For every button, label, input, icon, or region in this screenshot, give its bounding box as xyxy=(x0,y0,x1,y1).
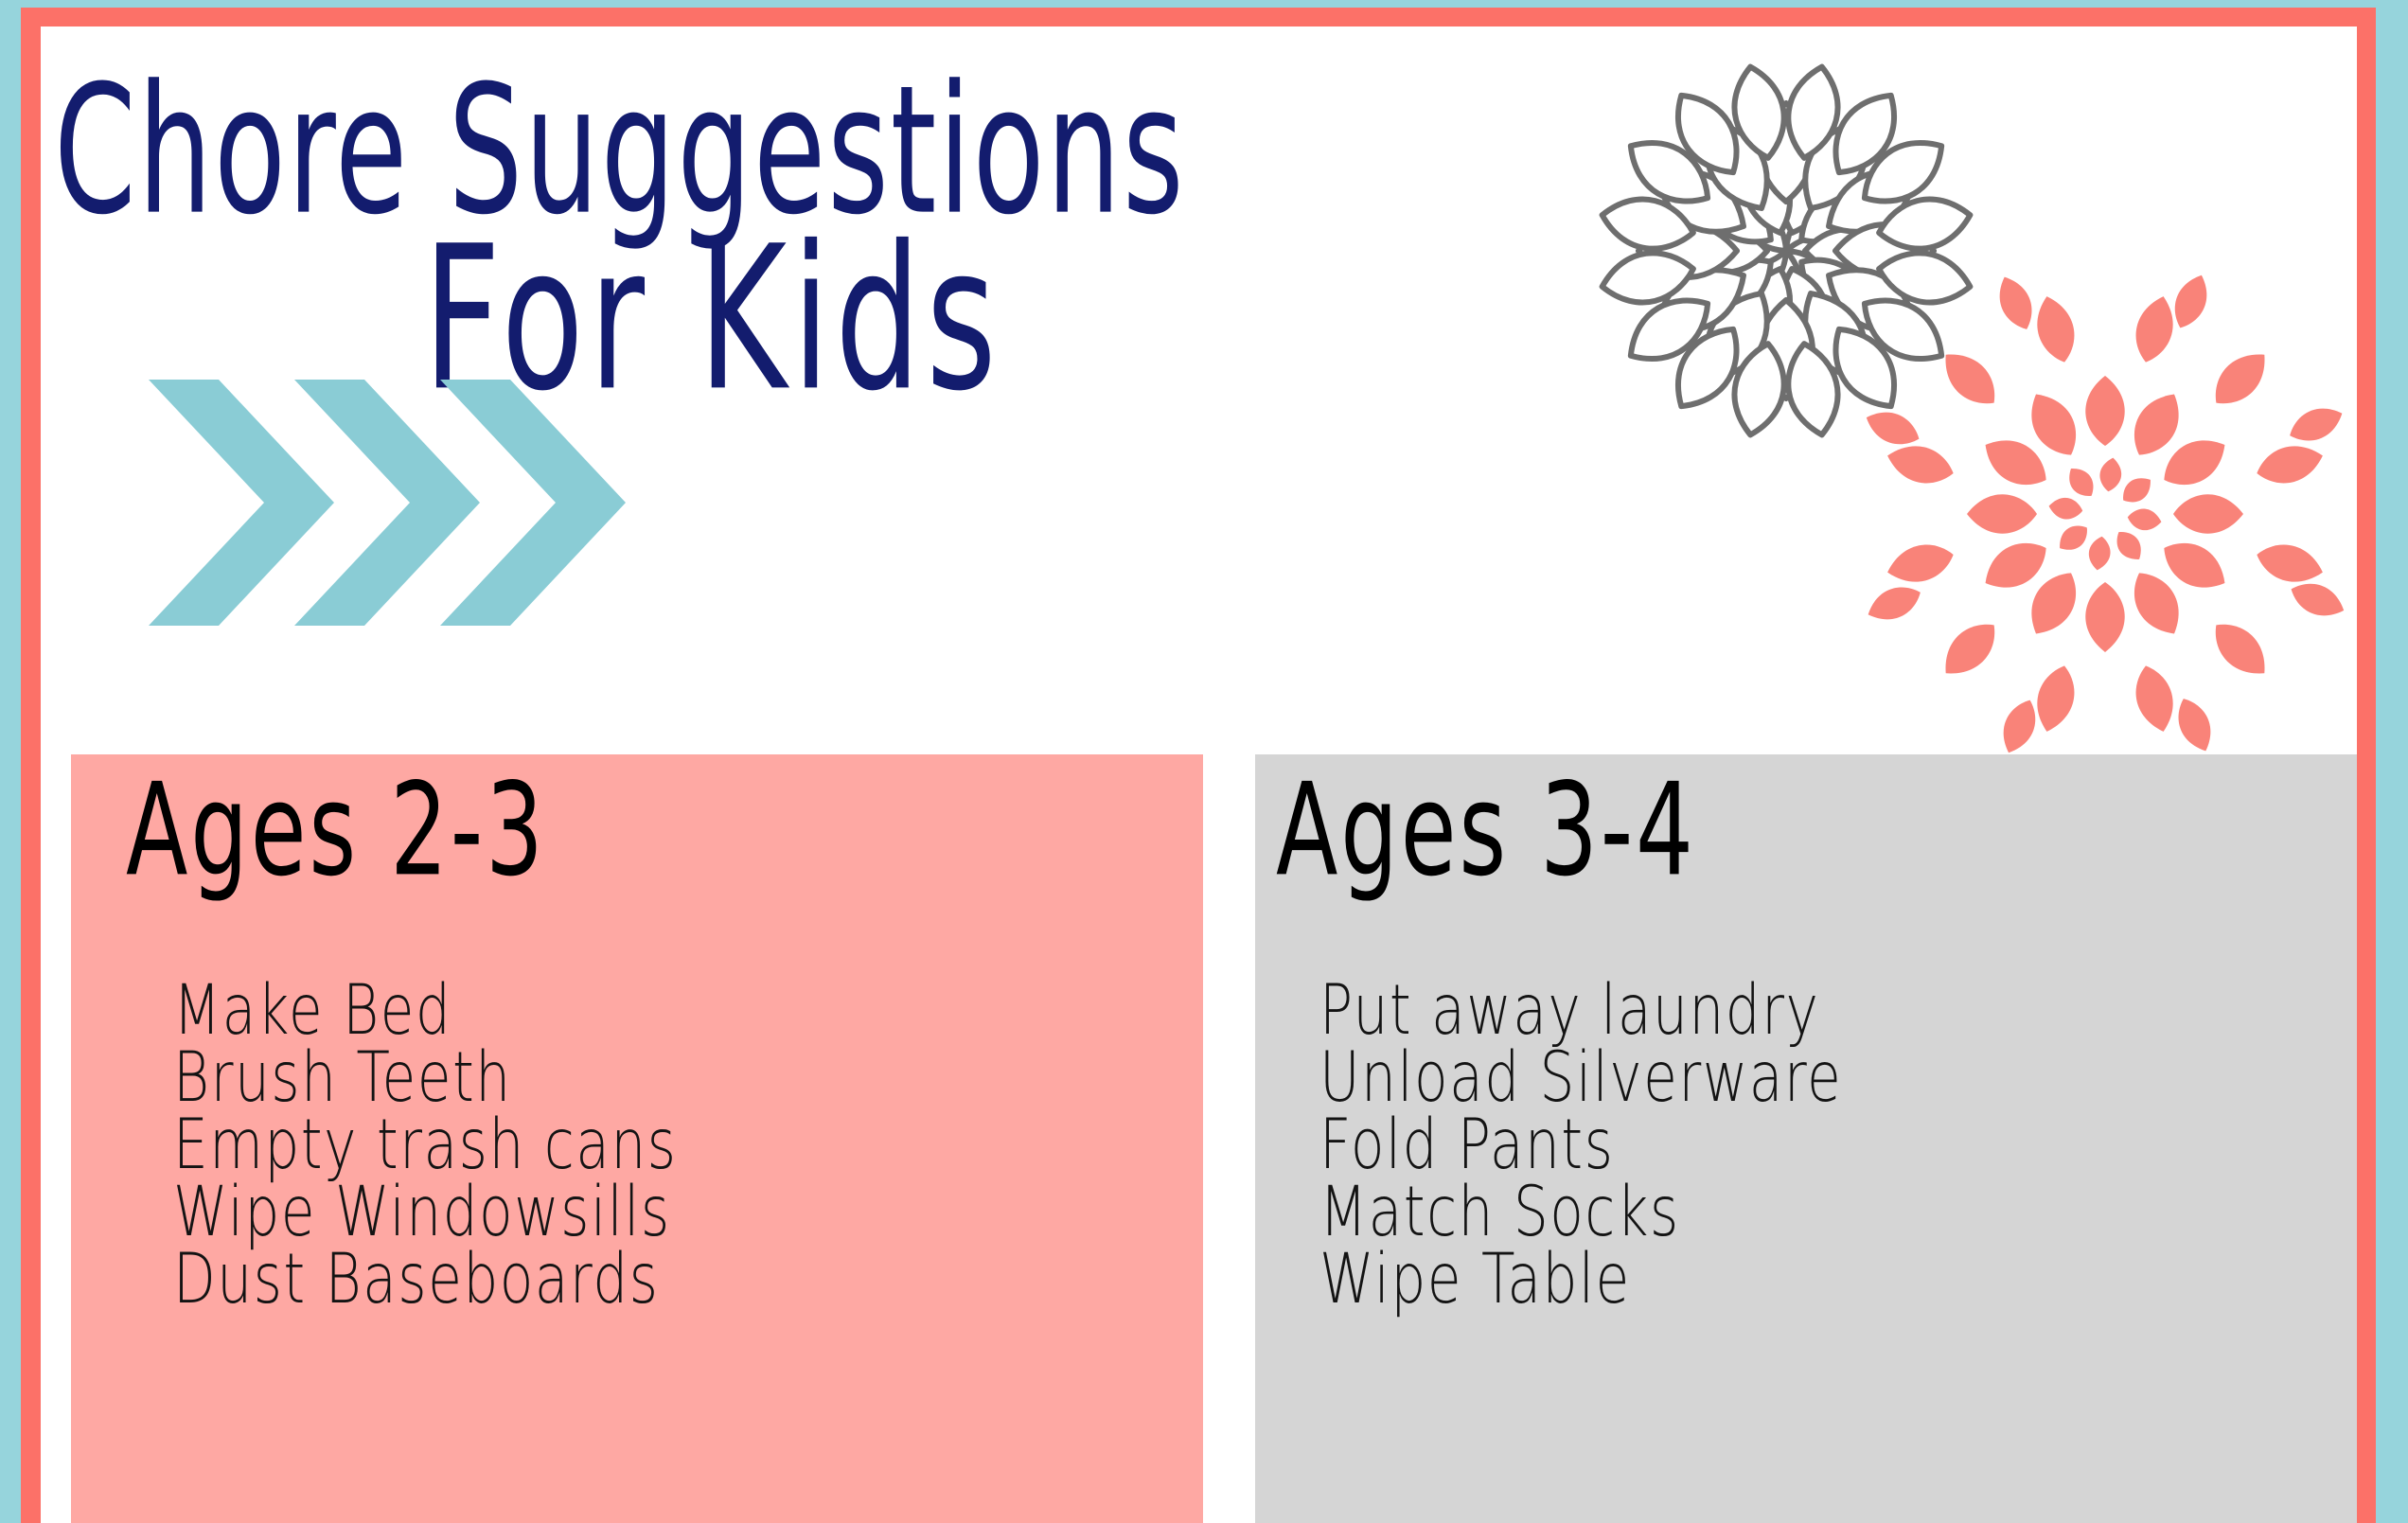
column-heading-ages-2-3: Ages 2-3 xyxy=(126,766,546,894)
chore-columns: Ages 2-3 Make Bed Brush Teeth Empty tras… xyxy=(71,754,2357,1523)
coral-burst-flower-decoration xyxy=(1812,258,2357,770)
chevron-right-icon-group xyxy=(145,380,637,626)
chore-list-ages-3-4: Put away laundry Unload Silverware Fold … xyxy=(1319,970,2351,1306)
burst-flower-icon xyxy=(1812,258,2357,770)
chore-column-ages-3-4: Ages 3-4 Put away laundry Unload Silverw… xyxy=(1255,754,2357,1523)
chore-list-ages-2-3: Make Bed Brush Teeth Empty trash cans Wi… xyxy=(173,970,1194,1306)
poster-canvas: Chore Suggestions For Kids xyxy=(0,0,2408,1523)
chevron-right-icon xyxy=(149,380,334,626)
chevron-arrows-decoration xyxy=(145,380,637,630)
chore-item: Wipe Table xyxy=(1319,1239,2320,1321)
chore-item: Dust Baseboards xyxy=(173,1239,1163,1321)
poster-interior: Chore Suggestions For Kids xyxy=(41,27,2357,1523)
column-heading-ages-3-4: Ages 3-4 xyxy=(1276,766,1696,894)
chore-column-ages-2-3: Ages 2-3 Make Bed Brush Teeth Empty tras… xyxy=(71,754,1203,1523)
poster-title-block: Chore Suggestions For Kids xyxy=(41,27,1082,434)
